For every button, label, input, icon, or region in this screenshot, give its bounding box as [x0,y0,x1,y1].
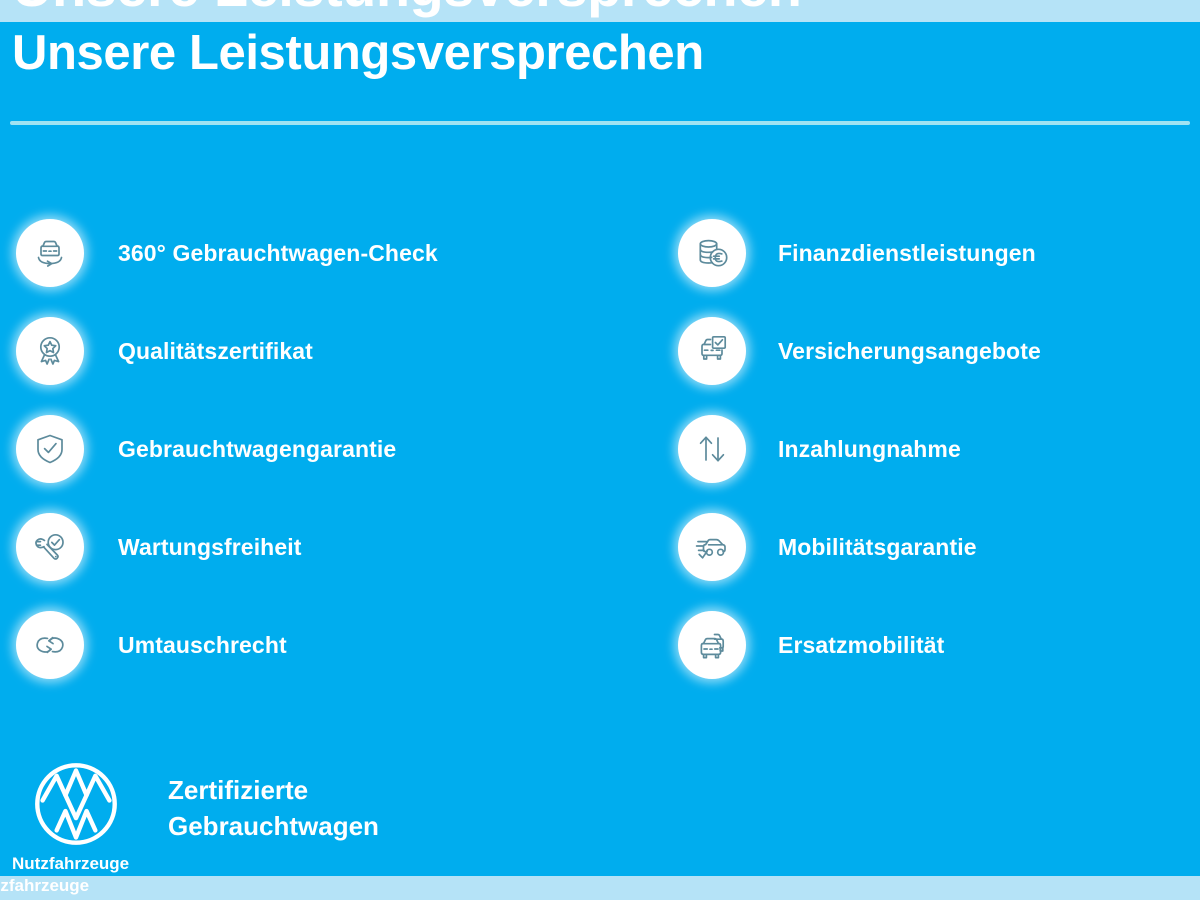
benefit-label: Inzahlungnahme [778,436,961,463]
car-speed-check-icon [678,513,746,581]
benefit-item-insurance-offers[interactable]: Versicherungsangebote [678,302,1178,400]
benefit-label: Versicherungsangebote [778,338,1041,365]
coins-euro-icon [678,219,746,287]
two-cars-icon [678,611,746,679]
title-divider [10,121,1190,125]
page-title: Unsere Leistungsversprechen [12,22,704,84]
wrench-check-icon [16,513,84,581]
benefit-item-warranty[interactable]: Gebrauchtwagengarantie [16,400,636,498]
brand-claim: Zertifizierte Gebrauchtwagen [168,772,379,844]
benefit-item-mobility-guarantee[interactable]: Mobilitätsgarantie [678,498,1178,596]
ghost-band-top: Unsere Leistungsversprechen [0,0,1200,22]
benefit-label: 360° Gebrauchtwagen-Check [118,240,438,267]
benefit-label: Wartungsfreiheit [118,534,301,561]
benefit-item-exchange-right[interactable]: Umtauschrecht [16,596,636,694]
up-down-arrows-icon [678,415,746,483]
benefits-column-right: Finanzdienstleistungen [678,204,1178,694]
car-document-check-icon [678,317,746,385]
benefit-label: Mobilitätsgarantie [778,534,977,561]
car-360-check-icon [16,219,84,287]
ghost-business-unit: Nutzfahrzeuge [0,876,89,896]
exchange-arrows-icon [16,611,84,679]
benefit-label: Finanzdienstleistungen [778,240,1036,267]
volkswagen-logo-icon [32,760,120,848]
benefit-item-maintenance-free[interactable]: Wartungsfreiheit [16,498,636,596]
benefit-item-quality-certificate[interactable]: Qualitätszertifikat [16,302,636,400]
benefit-label: Umtauschrecht [118,632,287,659]
shield-check-icon [16,415,84,483]
ghost-page-title: Unsere Leistungsversprechen [12,0,801,19]
benefit-item-replacement-mobility[interactable]: Ersatzmobilität [678,596,1178,694]
benefit-label: Gebrauchtwagengarantie [118,436,396,463]
brand-business-unit: Nutzfahrzeuge [12,854,129,874]
benefits-column-left: 360° Gebrauchtwagen-Check Qualitätszerti… [16,204,636,694]
benefit-item-trade-in[interactable]: Inzahlungnahme [678,400,1178,498]
award-rosette-icon [16,317,84,385]
benefit-item-360-check[interactable]: 360° Gebrauchtwagen-Check [16,204,636,302]
benefit-item-financial-services[interactable]: Finanzdienstleistungen [678,204,1178,302]
brand-lockup: Zertifizierte Gebrauchtwagen Nutzfahrzeu… [16,758,916,878]
promo-slide: Unsere Leistungsversprechen Unsere Leist… [0,0,1200,900]
ghost-band-bottom: Nutzfahrzeuge [0,876,1200,900]
benefit-label: Ersatzmobilität [778,632,944,659]
benefit-label: Qualitätszertifikat [118,338,313,365]
